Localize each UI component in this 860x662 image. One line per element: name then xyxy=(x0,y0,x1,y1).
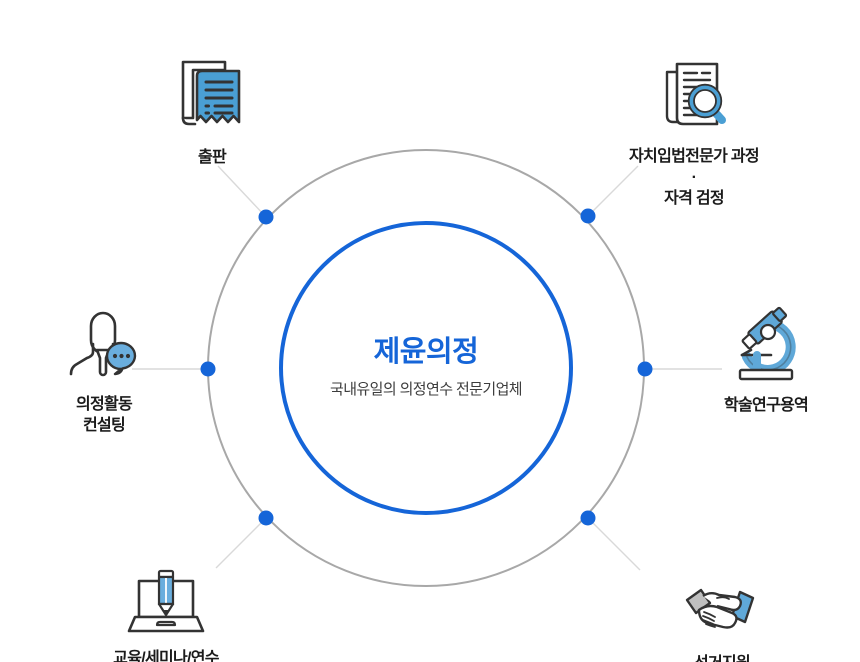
node-publish[interactable]: 출판 xyxy=(107,52,317,169)
laptop-pencil-icon xyxy=(61,553,271,639)
ring-dot-publish[interactable] xyxy=(259,210,274,225)
node-label-research: 학술연구용역 xyxy=(661,395,860,417)
ring-dots xyxy=(201,209,653,526)
microscope-icon xyxy=(661,300,860,386)
node-label-election: 선거지원 xyxy=(617,653,827,662)
ring-dot-election[interactable] xyxy=(581,511,596,526)
node-label-education: 교육/세미나/연수 xyxy=(61,648,271,662)
node-label-consulting: 의정활동 컨설팅 xyxy=(0,395,209,437)
diagram-canvas: 제윤의정 국내유일의 의정연수 전문기업체 xyxy=(0,0,860,662)
node-consulting[interactable]: 의정활동 컨설팅 xyxy=(0,300,209,437)
node-label-publish: 출판 xyxy=(107,147,317,169)
connector-publish xyxy=(218,166,266,217)
node-election[interactable]: 선거지원 xyxy=(617,558,827,662)
person-speech-bubble-icon xyxy=(0,300,209,386)
outer-ring xyxy=(208,150,644,586)
inner-ring xyxy=(281,223,571,513)
node-education[interactable]: 교육/세미나/연수 xyxy=(61,553,271,662)
document-stack-icon xyxy=(107,52,317,138)
connector-lines xyxy=(132,166,722,570)
document-search-icon xyxy=(589,52,799,138)
ring-dot-certificate[interactable] xyxy=(581,209,596,224)
node-label-certificate: 자치입법전문가 과정 · 자격 검정 xyxy=(589,147,799,209)
handshake-icon xyxy=(617,558,827,644)
ring-dot-research[interactable] xyxy=(638,362,653,377)
node-certificate[interactable]: 자치입법전문가 과정 · 자격 검정 xyxy=(589,52,799,209)
node-research[interactable]: 학술연구용역 xyxy=(661,300,860,417)
ring-dot-education[interactable] xyxy=(259,511,274,526)
